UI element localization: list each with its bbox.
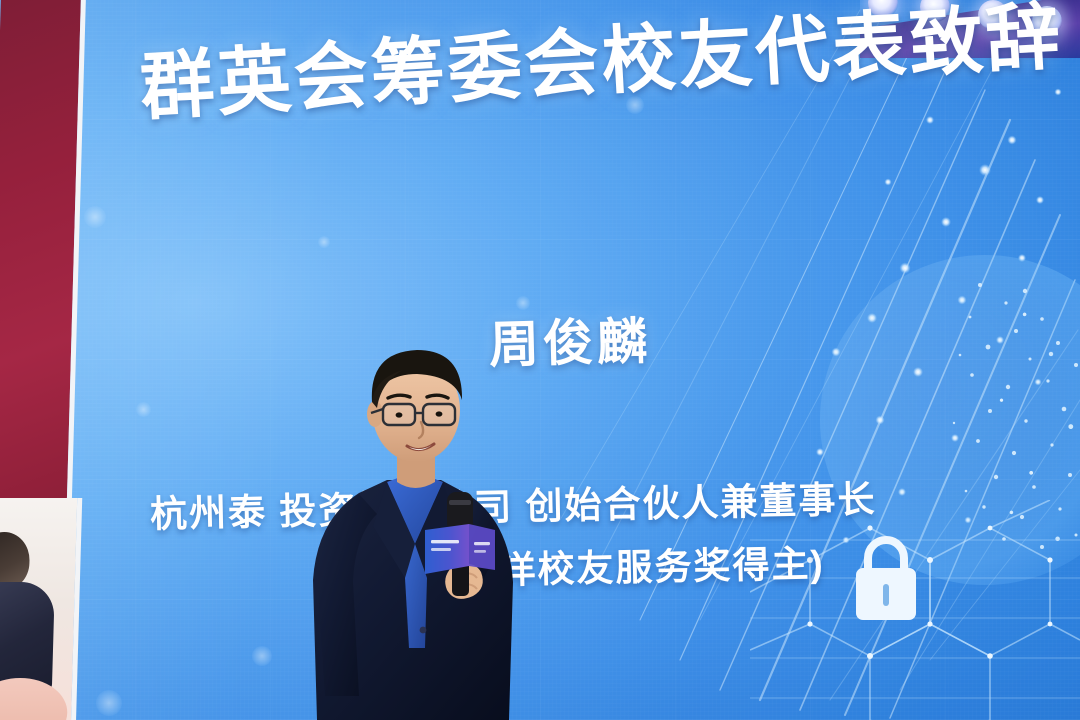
photo-person-foreground — [0, 678, 68, 720]
bokeh-spot — [96, 690, 122, 716]
bokeh-spot — [136, 402, 151, 417]
microphone-flag — [425, 524, 495, 574]
bokeh-spot — [318, 236, 330, 248]
bokeh-spot — [84, 206, 106, 228]
partially-visible-person-photo — [0, 498, 82, 720]
photo-person-body — [0, 582, 55, 692]
conference-stage-photo: 群英会筹委会校友代表致辞 周俊麟 杭州泰 投资管理公司 创始合伙人兼董事长 16… — [0, 0, 1080, 720]
padlock-security-icon — [856, 540, 916, 620]
red-backdrop-panel — [0, 0, 86, 500]
speaker-figure — [255, 330, 585, 720]
